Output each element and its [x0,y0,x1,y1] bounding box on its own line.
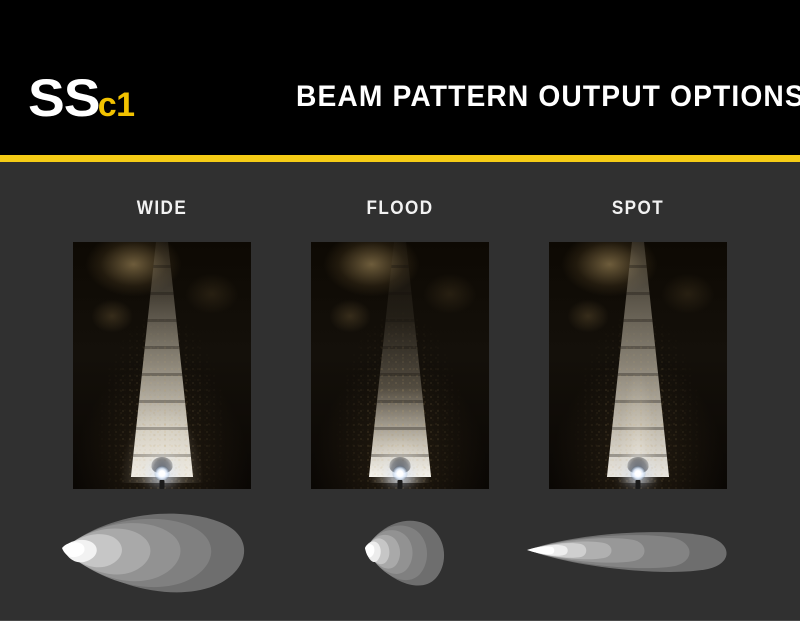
photo-lamp-post-wide [160,480,165,489]
photo-gravel-texture-flood [311,242,489,489]
beam-pattern-diagram-wide [42,502,282,602]
column-flood: FLOOD [280,162,520,621]
column-label-wide: WIDE [54,198,270,220]
photo-lamp-post-flood [398,480,403,489]
beam-photo-spot [549,242,727,489]
header-bar: SS c1 BEAM PATTERN OUTPUT OPTIONS [0,0,800,155]
beam-photo-flood [311,242,489,489]
comparison-stage: WIDE [0,162,800,621]
column-label-flood: FLOOD [292,198,508,220]
ssc1-logo: SS c1 [28,72,135,125]
beam-pattern-diagram-flood [280,502,520,602]
yellow-accent-divider [0,155,800,162]
column-wide: WIDE [42,162,282,621]
photo-lamp-spot [631,466,646,481]
column-label-spot: SPOT [530,198,746,220]
spot-source [527,546,554,554]
beam-pattern-diagram-spot [518,502,758,602]
logo-text-secondary: c1 [98,88,135,122]
beam-pattern-infographic: SS c1 BEAM PATTERN OUTPUT OPTIONS WIDE [0,0,800,621]
wide-beam-pattern [42,502,282,602]
photo-gravel-texture-spot [549,242,727,489]
flood-beam-pattern [280,502,520,602]
photo-gravel-texture-wide [73,242,251,489]
photo-lamp-post-spot [636,480,641,489]
column-spot: SPOT [518,162,758,621]
logo-text-primary: SS [28,72,99,125]
photo-lamp-flood [393,466,408,481]
page-title: BEAM PATTERN OUTPUT OPTIONS [296,80,800,114]
spot-beam-pattern [518,502,758,602]
photo-lamp-wide [155,466,170,481]
beam-photo-wide [73,242,251,489]
